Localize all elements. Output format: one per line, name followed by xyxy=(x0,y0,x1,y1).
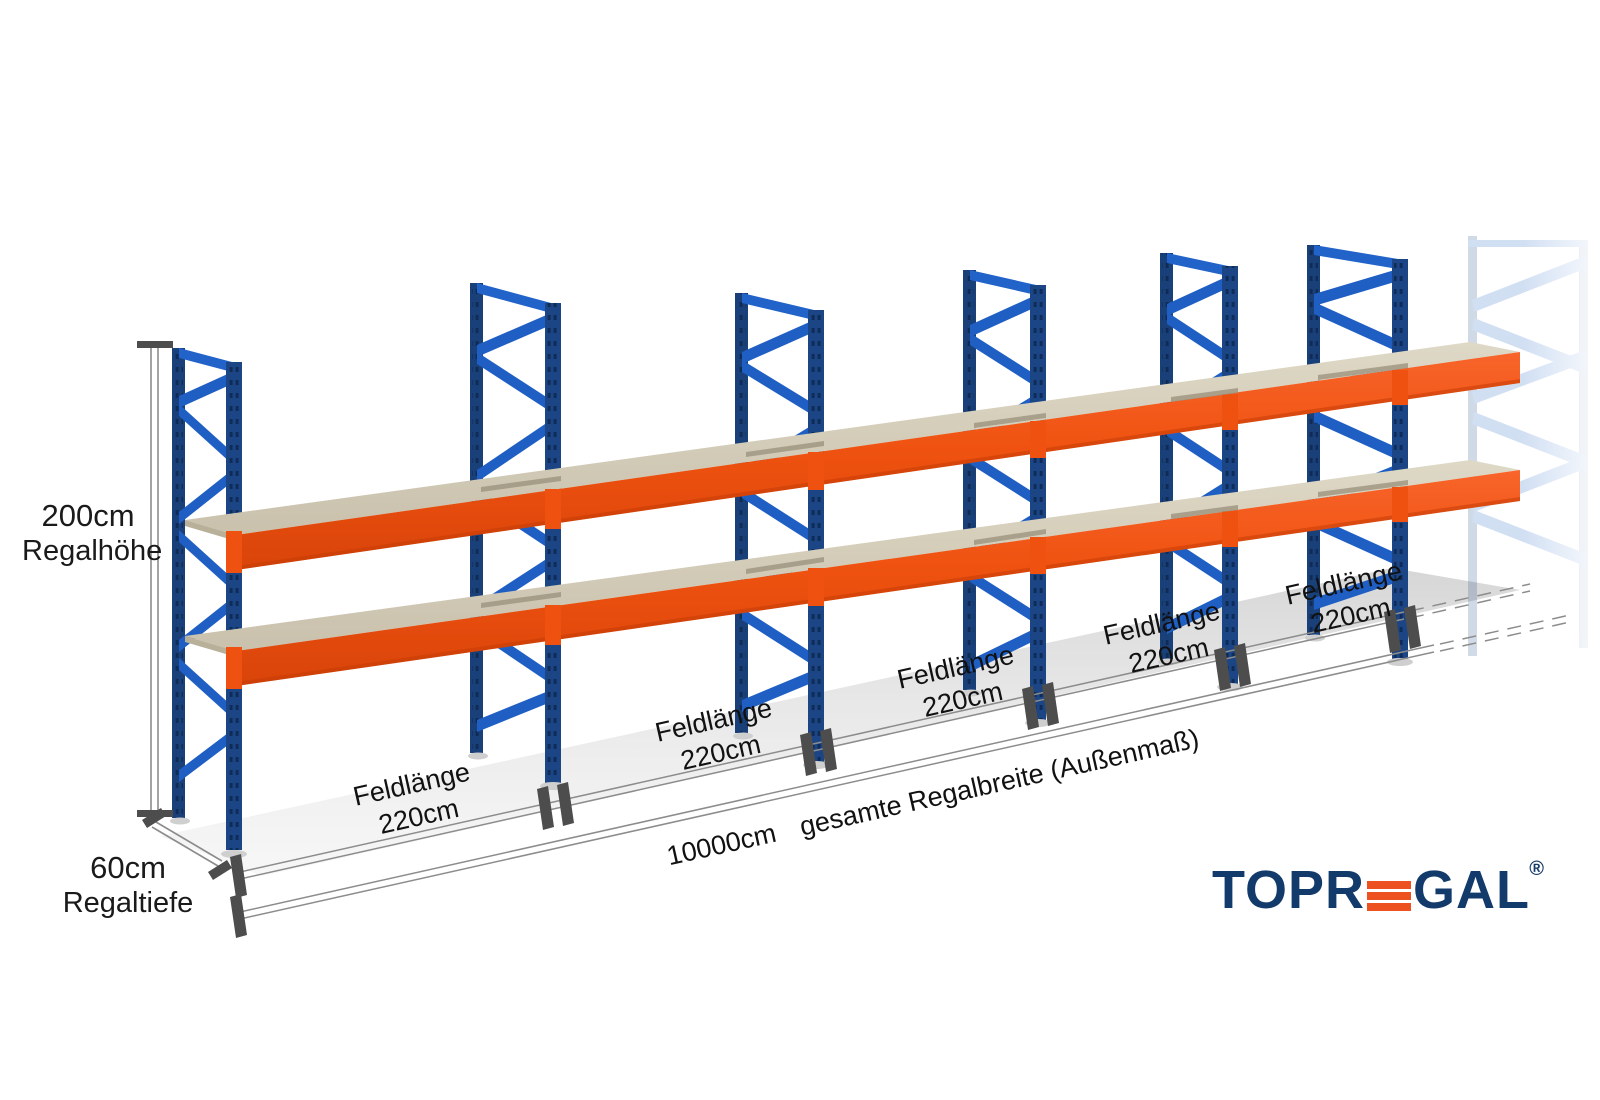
frame-1 xyxy=(170,348,247,858)
beam-upper-front xyxy=(236,352,1520,570)
logo-e-bars-icon xyxy=(1367,874,1411,912)
dimension-height xyxy=(151,347,158,812)
logo-wordmark: TOPRGAL xyxy=(1212,862,1542,918)
dimension-tick-height-top xyxy=(137,341,173,348)
shelf-height-label: Regalhöhe xyxy=(22,534,154,568)
shelf-depth-label: Regaltiefe xyxy=(62,886,194,920)
shelf-height-value: 200cm xyxy=(22,498,154,534)
frame-2 xyxy=(468,283,566,790)
registered-mark: ® xyxy=(1529,858,1544,881)
label-shelf-depth: 60cm Regaltiefe xyxy=(62,850,194,920)
shelving-diagram: 200cm Regalhöhe 60cm Regaltiefe Feldläng… xyxy=(0,0,1600,1100)
topregal-logo: TOPRGAL ® xyxy=(1212,862,1542,932)
dimension-ticks-total-width xyxy=(230,894,247,938)
logo-text-top: TOPR xyxy=(1212,860,1365,920)
logo-text-gal: GAL xyxy=(1413,860,1530,920)
shelving-illustration xyxy=(0,0,1600,1100)
label-shelf-height: 200cm Regalhöhe xyxy=(22,498,154,568)
shelf-depth-value: 60cm xyxy=(62,850,194,886)
